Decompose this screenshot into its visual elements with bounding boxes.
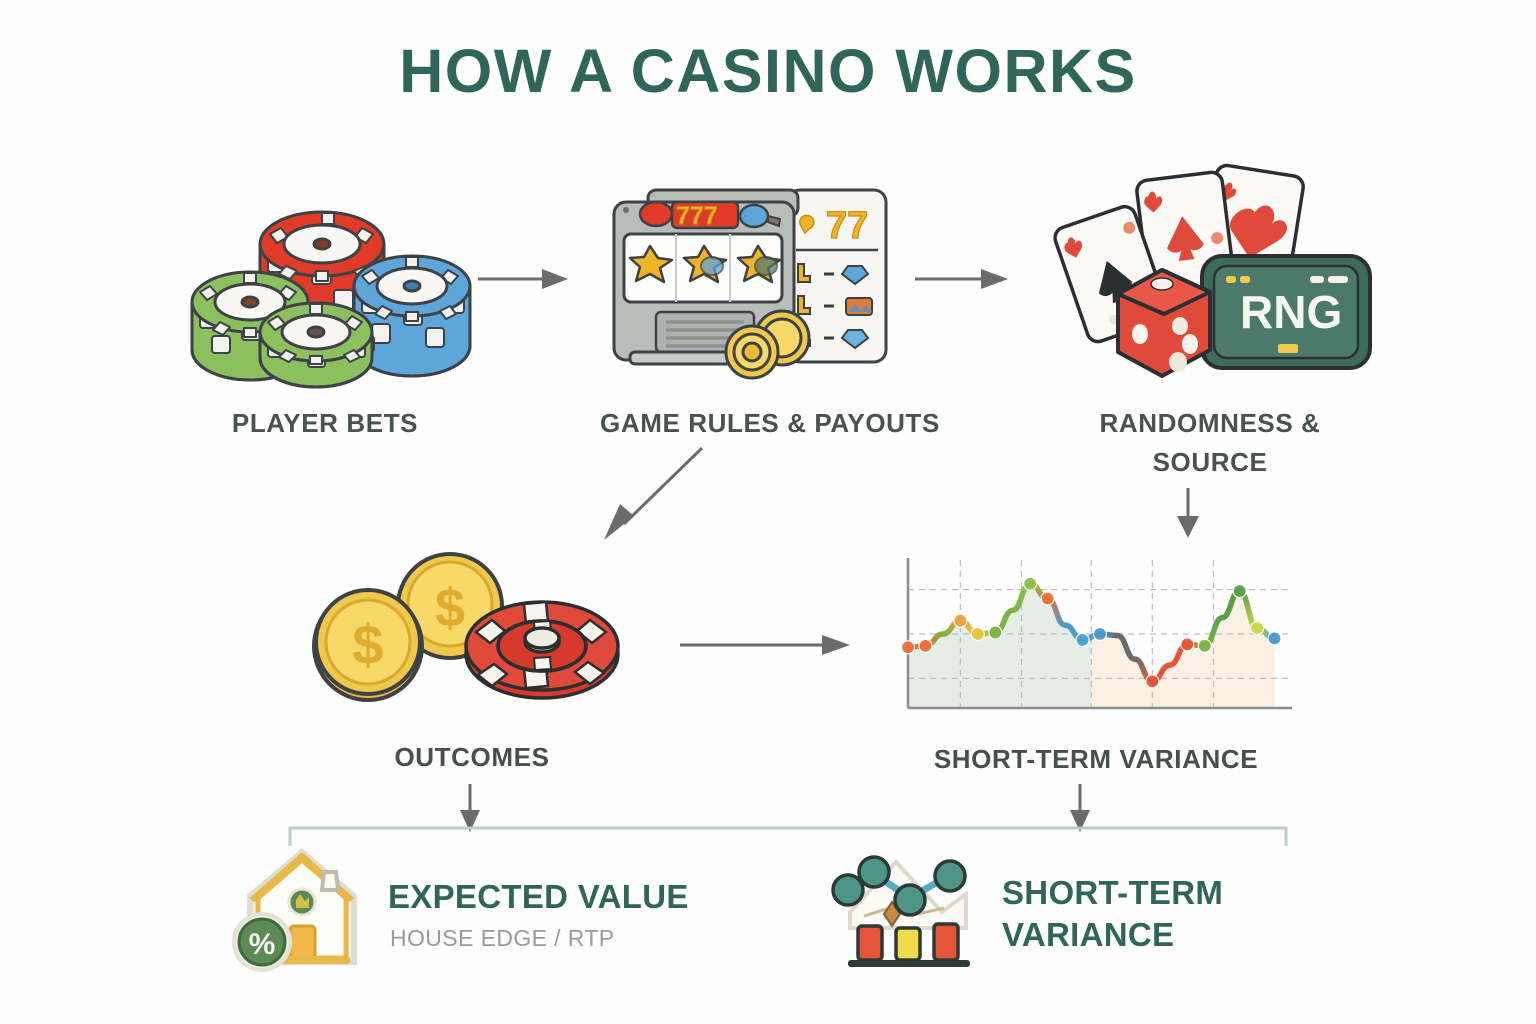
chart-data-point bbox=[1181, 638, 1194, 651]
chart-data-point bbox=[1233, 585, 1246, 598]
page-title: HOW A CASINO WORKS bbox=[0, 36, 1536, 106]
node-label-randomness: RANDOMNESS & SOURCE bbox=[1010, 404, 1410, 482]
svg-text:$: $ bbox=[352, 613, 383, 676]
chart-data-point bbox=[1251, 622, 1264, 635]
chart-data-point bbox=[919, 639, 932, 652]
chart-data-point bbox=[1268, 632, 1281, 645]
chart-data-point bbox=[1024, 577, 1037, 590]
percent-badge-symbol: % bbox=[249, 928, 276, 961]
variance-chart-svg bbox=[894, 552, 1298, 726]
svg-text:RNG: RNG bbox=[1240, 286, 1342, 338]
chart-data-point bbox=[1094, 628, 1107, 641]
arrow-randomness-to-variance bbox=[1174, 488, 1202, 540]
summary-title-expected-value: EXPECTED VALUE bbox=[388, 876, 768, 918]
summary-title-short-term-variance: SHORT-TERM VARIANCE bbox=[1002, 872, 1332, 955]
node-label-randomness-line1: RANDOMNESS & bbox=[1010, 404, 1410, 443]
chart-data-point bbox=[902, 641, 915, 654]
infographic-canvas: HOW A CASINO WORKS bbox=[0, 0, 1536, 1024]
summary-bracket bbox=[288, 824, 1288, 848]
arrow-bets-to-rules bbox=[478, 266, 570, 292]
node-label-variance: SHORT-TERM VARIANCE bbox=[900, 740, 1292, 779]
svg-text:77: 77 bbox=[826, 205, 868, 247]
chart-data-point bbox=[1198, 639, 1211, 652]
chart-data-point bbox=[989, 626, 1002, 639]
svg-text:$: $ bbox=[435, 578, 465, 638]
summary-title-line2: VARIANCE bbox=[1002, 914, 1332, 956]
chart-data-point bbox=[1146, 675, 1159, 688]
node-label-outcomes: OUTCOMES bbox=[300, 738, 644, 777]
arrow-rules-to-randomness bbox=[915, 266, 1010, 292]
slot-machine-icon: 77 bbox=[600, 176, 905, 376]
svg-text:777: 777 bbox=[676, 202, 718, 230]
variance-line-chart-icon bbox=[894, 552, 1298, 726]
poker-chips-stack-icon bbox=[186, 186, 476, 386]
node-label-randomness-line2: SOURCE bbox=[1010, 443, 1410, 482]
coins-and-chip-icon: $ $ bbox=[302, 556, 638, 720]
chart-data-point bbox=[1041, 592, 1054, 605]
cards-dice-rng-icon: RNG bbox=[1052, 166, 1372, 381]
summary-title-line1: SHORT-TERM bbox=[1002, 872, 1332, 914]
node-label-game-rules: GAME RULES & PAYOUTS bbox=[520, 404, 1020, 443]
node-label-player-bets: PLAYER BETS bbox=[140, 404, 510, 443]
arrow-outcomes-to-variance bbox=[680, 632, 852, 658]
house-percent-icon: % bbox=[228, 838, 380, 976]
summary-subtitle-house-edge: HOUSE EDGE / RTP bbox=[390, 925, 770, 952]
chart-data-point bbox=[954, 614, 967, 627]
network-bars-chart-icon bbox=[826, 842, 988, 970]
chart-data-point bbox=[971, 628, 984, 641]
arrow-rules-to-outcomes bbox=[598, 442, 710, 544]
chart-data-point bbox=[1076, 633, 1089, 646]
